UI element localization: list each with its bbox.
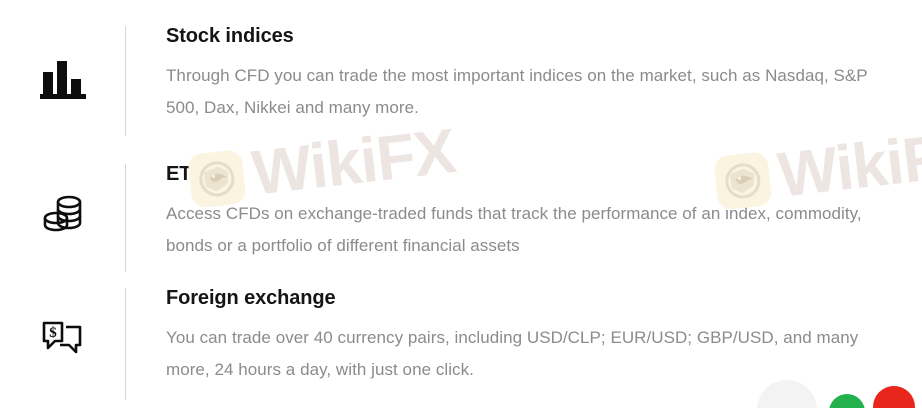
svg-text:$: $	[49, 325, 57, 341]
bar-chart-icon	[0, 22, 125, 134]
feature-text: ETF Access CFDs on exchange-traded funds…	[126, 160, 922, 262]
feature-description: Through CFD you can trade the most impor…	[166, 60, 896, 124]
feature-text: Foreign exchange You can trade over 40 c…	[126, 284, 922, 386]
feature-row: ETF Access CFDs on exchange-traded funds…	[0, 160, 922, 278]
chat-dollar-icon: $	[0, 284, 125, 396]
feature-description: You can trade over 40 currency pairs, in…	[166, 322, 896, 386]
feature-list-page: Stock indices Through CFD you can trade …	[0, 0, 922, 408]
feature-description: Access CFDs on exchange-traded funds tha…	[166, 198, 896, 262]
feature-title: ETF	[166, 161, 922, 187]
stacked-coins-icon	[0, 160, 125, 270]
feature-text: Stock indices Through CFD you can trade …	[126, 22, 922, 124]
feature-row: Stock indices Through CFD you can trade …	[0, 22, 922, 142]
feature-title: Foreign exchange	[166, 285, 922, 311]
feature-title: Stock indices	[166, 23, 922, 49]
